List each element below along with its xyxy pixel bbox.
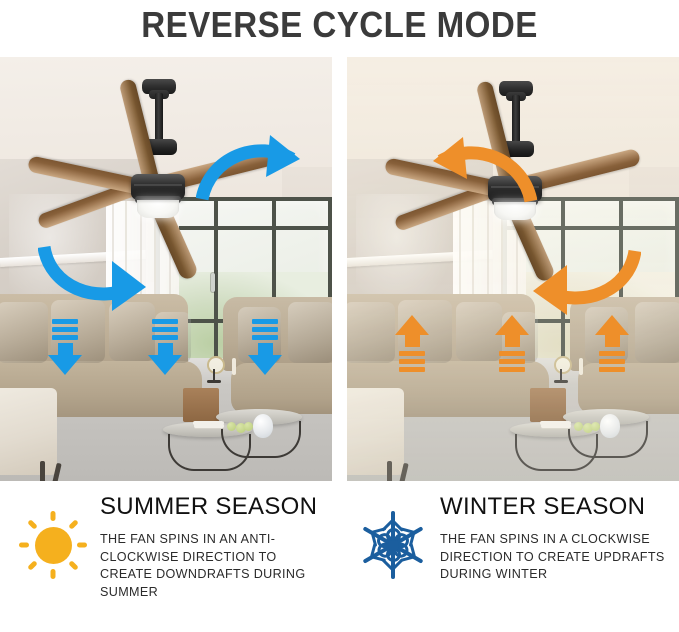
airflow-arrow-up [495,315,529,375]
armchair [0,388,80,481]
candle [232,358,236,375]
page-title: REVERSE CYCLE MODE [27,2,652,48]
summer-body-line: SUMMER [100,584,336,602]
fan-canopy [142,79,176,94]
summer-photo-panel [0,57,332,481]
summer-body-line: CLOCKWISE DIRECTION TO [100,549,336,567]
snowflake-icon [354,506,432,584]
airflow-arrow-down [148,319,182,375]
airflow-arrow-down [48,319,82,375]
rotation-arrow-blue-top [196,133,302,203]
armchair [347,388,427,481]
winter-body-line: DURING WINTER [440,566,676,584]
airflow-arrow-down [248,319,282,375]
footer-legend: SUMMER SEASON THE FAN SPINS IN AN ANTI- … [0,486,679,632]
winter-body-line: DIRECTION TO CREATE UPDRAFTS [440,549,676,567]
summer-heading: SUMMER SEASON [100,490,336,524]
summer-text-block: SUMMER SEASON THE FAN SPINS IN AN ANTI- … [100,490,336,601]
summer-body: THE FAN SPINS IN AN ANTI- CLOCKWISE DIRE… [100,531,336,601]
table-objects [540,411,626,436]
rotation-arrow-orange-bottom [529,243,641,319]
fan-led-light [137,200,179,218]
winter-legend: WINTER SEASON THE FAN SPINS IN A CLOCKWI… [340,486,679,632]
winter-text-block: WINTER SEASON THE FAN SPINS IN A CLOCKWI… [440,490,676,584]
winter-body-line: THE FAN SPINS IN A CLOCKWISE [440,531,676,549]
candle [579,358,583,375]
airflow-arrow-up [595,315,629,375]
winter-body: THE FAN SPINS IN A CLOCKWISE DIRECTION T… [440,531,676,584]
fan-canopy [499,81,533,96]
fan-downrod [155,93,163,141]
panel-row [0,57,679,481]
summer-body-line: THE FAN SPINS IN AN ANTI- [100,531,336,549]
rotation-arrow-blue-bottom [38,239,150,315]
winter-heading: WINTER SEASON [440,490,676,524]
summer-body-line: CREATE DOWNDRAFTS DURING [100,566,336,584]
rotation-arrow-orange-top [431,135,537,205]
infographic-page: REVERSE CYCLE MODE [0,0,679,632]
airflow-arrow-up [395,315,429,375]
table-objects [193,411,279,436]
summer-legend: SUMMER SEASON THE FAN SPINS IN AN ANTI- … [0,486,339,632]
sun-icon [14,506,92,584]
winter-photo-panel [347,57,679,481]
